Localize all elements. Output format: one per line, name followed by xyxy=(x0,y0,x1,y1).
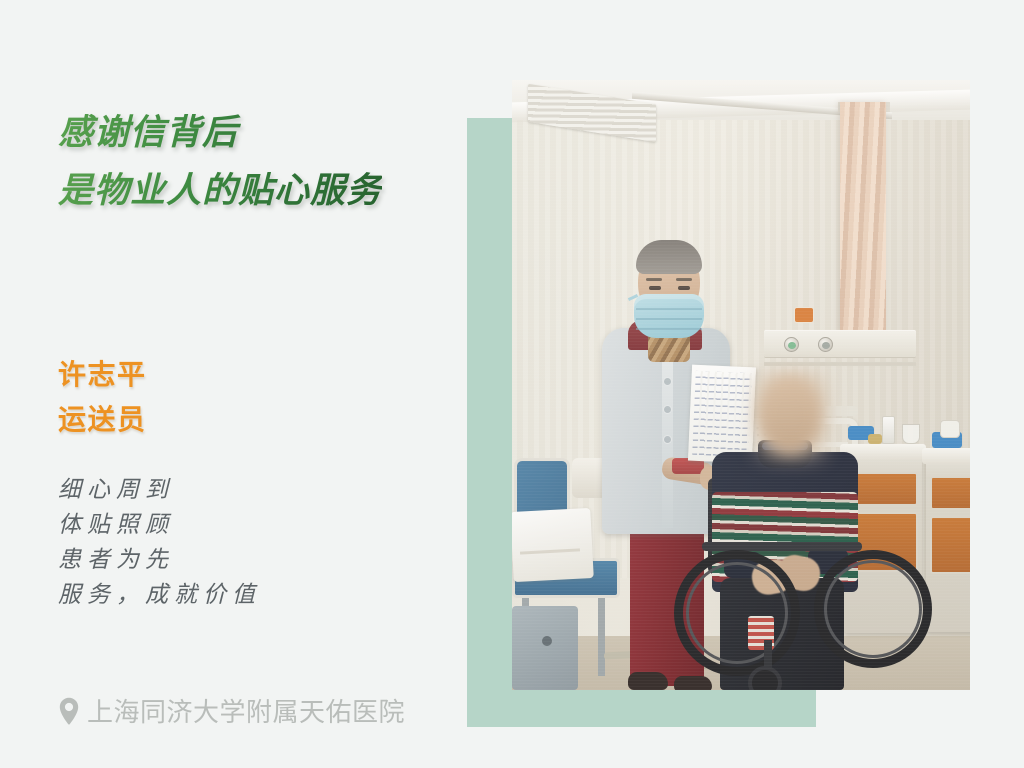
folded-towel xyxy=(512,508,594,582)
headline: 感谢信背后 是物业人的贴心服务 xyxy=(58,104,382,220)
suction-outlet-icon xyxy=(818,337,833,352)
letter-columns xyxy=(692,371,752,457)
location-footer: 上海同济大学附属天佑医院 xyxy=(58,692,405,729)
stool xyxy=(512,606,578,690)
wheelchair-frame xyxy=(702,542,862,551)
staff-shoe xyxy=(628,672,668,690)
eye xyxy=(678,286,690,290)
chair-leg xyxy=(598,598,605,676)
ward-curtain xyxy=(840,102,886,332)
mask-pleat xyxy=(636,328,702,330)
coat-button xyxy=(664,378,671,385)
person-block: 许志平 运送员 xyxy=(58,352,147,442)
slogan-line-3: 患者为先 xyxy=(58,542,261,577)
panel-rail xyxy=(764,362,916,366)
person-role: 运送员 xyxy=(58,397,147,442)
eye xyxy=(649,286,661,290)
slogan-line-4: 服务，成就价值 xyxy=(58,577,261,612)
person-name: 许志平 xyxy=(58,352,147,397)
oxygen-outlet-icon xyxy=(784,337,799,352)
cabinet-drawer xyxy=(848,472,918,506)
headline-line-1: 感谢信背后 xyxy=(58,104,382,162)
stool-hole xyxy=(542,636,552,646)
location-name: 上海同济大学附属天佑医院 xyxy=(87,692,405,729)
photo-hospital-ward xyxy=(512,80,970,690)
cup xyxy=(902,424,920,444)
misc-item xyxy=(868,434,882,444)
location-pin-icon xyxy=(58,697,80,725)
slogan-block: 细心周到 体贴照顾 患者为先 服务，成就价值 xyxy=(58,472,261,612)
mask-pleat xyxy=(636,308,702,310)
headline-line-2: 是物业人的贴心服务 xyxy=(58,162,382,220)
slogan-line-2: 体贴照顾 xyxy=(58,507,261,542)
cabinet-top xyxy=(922,448,970,464)
coat-placket xyxy=(662,338,673,528)
surgical-mask-icon xyxy=(634,294,704,338)
eyebrow xyxy=(646,278,662,281)
tissue-box xyxy=(940,420,960,438)
eyebrow xyxy=(676,278,692,281)
coat-button xyxy=(664,406,671,413)
wall-sign xyxy=(795,308,813,322)
staff-shoe xyxy=(674,676,712,690)
water-bottle xyxy=(882,416,895,444)
cabinet-door xyxy=(930,516,970,574)
wheelchair-handrim xyxy=(824,560,922,658)
mask-pleat xyxy=(636,318,702,320)
patient-head xyxy=(760,378,820,452)
cabinet-drawer xyxy=(930,476,970,510)
coat-button xyxy=(664,436,671,443)
staff-hair xyxy=(636,240,702,274)
slogan-line-1: 细心周到 xyxy=(58,472,261,507)
